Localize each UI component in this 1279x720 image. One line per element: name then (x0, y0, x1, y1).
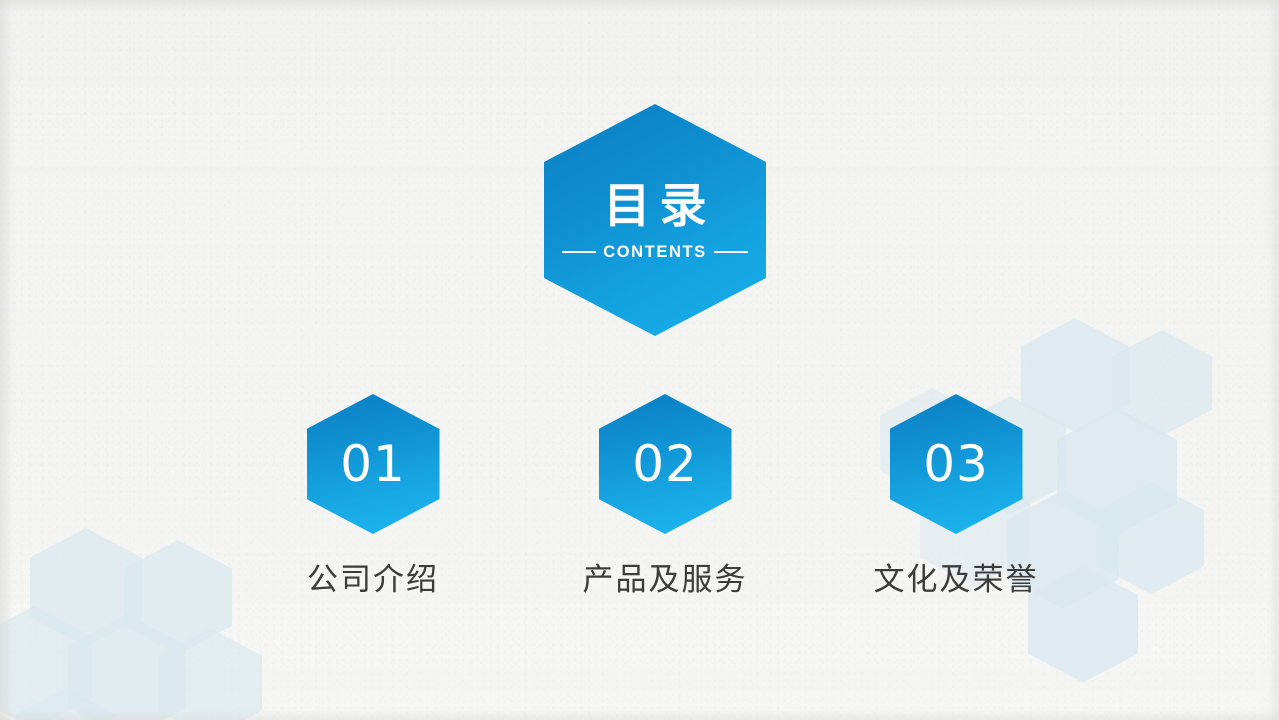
agenda-label-1: 公司介绍 (273, 554, 473, 599)
page-title: 目录 (595, 182, 716, 231)
contents-title-hexagon[interactable]: 目录 CONTENTS (544, 104, 766, 336)
agenda-item-3[interactable]: 03 文化及荣誉 (856, 394, 1056, 599)
agenda-hexagon-2[interactable]: 02 (599, 394, 732, 534)
agenda-hexagon-1[interactable]: 01 (307, 394, 440, 534)
agenda-label-2: 产品及服务 (565, 554, 765, 599)
agenda-hexagon-3[interactable]: 03 (890, 394, 1023, 534)
contents-subtitle-row: CONTENTS (552, 243, 758, 262)
agenda-number-2: 02 (599, 394, 732, 534)
slide-content: 目录 CONTENTS 01 公司介绍 02 产品及服务 (0, 0, 1279, 720)
agenda-number-1: 01 (307, 394, 440, 534)
agenda-label-3: 文化及荣誉 (856, 554, 1056, 599)
agenda-item-1[interactable]: 01 公司介绍 (273, 394, 473, 599)
agenda-item-2[interactable]: 02 产品及服务 (565, 394, 765, 599)
rule-left-icon (562, 251, 596, 253)
agenda-number-3: 03 (890, 394, 1023, 534)
contents-title-content: 目录 CONTENTS (544, 104, 766, 336)
page-subtitle: CONTENTS (603, 243, 707, 262)
rule-right-icon (714, 251, 748, 253)
slide-canvas: 目录 CONTENTS 01 公司介绍 02 产品及服务 (0, 0, 1279, 720)
